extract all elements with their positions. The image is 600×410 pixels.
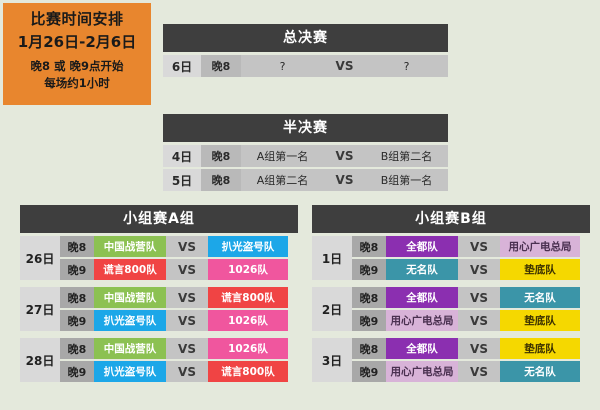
match-time: 晚9 <box>60 259 94 280</box>
semifinal-row-team2: B组第二名 <box>365 145 448 167</box>
finals-row-vs: VS <box>324 55 365 77</box>
team-name-home: 中国战营队 <box>94 338 166 359</box>
team-name-away: 垫底队 <box>500 338 580 359</box>
table-row: 晚9用心广电总局VS无名队 <box>352 361 590 382</box>
group-b-body: 1日晚8全都队VS用心广电总局晚9无名队VS垫底队2日晚8全都队VS无名队晚9用… <box>312 236 590 382</box>
semifinals-block: 半决赛 4日 晚8 A组第一名 VS B组第二名 5日 晚8 A组第二名 VS … <box>163 114 448 191</box>
table-row: 晚9谎言800队VS1026队 <box>60 259 298 280</box>
vs-label: VS <box>458 236 500 257</box>
tournament-date-range: 1月26日-2月6日 <box>18 31 136 53</box>
team-name-away: 1026队 <box>208 338 288 359</box>
semifinal-row-team1: A组第二名 <box>241 169 324 191</box>
table-row: 晚9扒光盗号队VS谎言800队 <box>60 361 298 382</box>
match-time: 晚8 <box>60 236 94 257</box>
group-b-block: 小组赛B组 1日晚8全都队VS用心广电总局晚9无名队VS垫底队2日晚8全都队VS… <box>312 205 590 382</box>
table-row: 晚9扒光盗号队VS1026队 <box>60 310 298 331</box>
table-row: 4日 晚8 A组第一名 VS B组第二名 <box>163 145 448 167</box>
day-group: 26日晚8中国战营队VS扒光盗号队晚9谎言800队VS1026队 <box>20 236 298 280</box>
table-row: 晚8全都队VS垫底队 <box>352 338 590 359</box>
team-name-away: 无名队 <box>500 361 580 382</box>
semifinal-row-vs: VS <box>324 145 365 167</box>
match-list: 晚8中国战营队VS1026队晚9扒光盗号队VS谎言800队 <box>60 338 298 382</box>
day-group: 3日晚8全都队VS垫底队晚9用心广电总局VS无名队 <box>312 338 590 382</box>
schedule-canvas: 比赛时间安排 1月26日-2月6日 晚8 或 晚9点开始 每场约1小时 总决赛 … <box>0 0 600 410</box>
semifinal-row-vs: VS <box>324 169 365 191</box>
vs-label: VS <box>166 361 208 382</box>
semifinal-row-team2: B组第一名 <box>365 169 448 191</box>
vs-label: VS <box>458 259 500 280</box>
table-row: 晚8全都队VS用心广电总局 <box>352 236 590 257</box>
match-time: 晚9 <box>352 259 386 280</box>
group-a-header: 小组赛A组 <box>20 205 298 233</box>
semifinal-row-time: 晚8 <box>201 145 241 167</box>
match-time: 晚9 <box>60 361 94 382</box>
team-name-home: 扒光盗号队 <box>94 361 166 382</box>
vs-label: VS <box>166 338 208 359</box>
team-name-home: 中国战营队 <box>94 287 166 308</box>
team-name-home: 用心广电总局 <box>386 310 458 331</box>
finals-row-time: 晚8 <box>201 55 241 77</box>
day-group: 2日晚8全都队VS无名队晚9用心广电总局VS垫底队 <box>312 287 590 331</box>
table-row: 5日 晚8 A组第二名 VS B组第一名 <box>163 169 448 191</box>
team-name-home: 扒光盗号队 <box>94 310 166 331</box>
vs-label: VS <box>166 287 208 308</box>
vs-label: VS <box>458 361 500 382</box>
team-name-away: 扒光盗号队 <box>208 236 288 257</box>
finals-block: 总决赛 6日 晚8 ? VS ? <box>163 24 448 77</box>
vs-label: VS <box>458 338 500 359</box>
semifinals-header: 半决赛 <box>163 114 448 142</box>
day-label: 1日 <box>312 236 352 280</box>
finals-row-day: 6日 <box>163 55 201 77</box>
table-row: 晚9无名队VS垫底队 <box>352 259 590 280</box>
match-list: 晚8中国战营队VS谎言800队晚9扒光盗号队VS1026队 <box>60 287 298 331</box>
day-label: 26日 <box>20 236 60 280</box>
match-list: 晚8中国战营队VS扒光盗号队晚9谎言800队VS1026队 <box>60 236 298 280</box>
semifinal-row-day: 4日 <box>163 145 201 167</box>
day-group: 1日晚8全都队VS用心广电总局晚9无名队VS垫底队 <box>312 236 590 280</box>
vs-label: VS <box>166 310 208 331</box>
vs-label: VS <box>166 259 208 280</box>
finals-row-team2: ? <box>365 55 448 77</box>
team-name-home: 全都队 <box>386 338 458 359</box>
team-name-home: 谎言800队 <box>94 259 166 280</box>
semifinal-row-time: 晚8 <box>201 169 241 191</box>
table-row: 晚9用心广电总局VS垫底队 <box>352 310 590 331</box>
match-list: 晚8全都队VS无名队晚9用心广电总局VS垫底队 <box>352 287 590 331</box>
day-label: 3日 <box>312 338 352 382</box>
match-list: 晚8全都队VS用心广电总局晚9无名队VS垫底队 <box>352 236 590 280</box>
match-time: 晚8 <box>60 287 94 308</box>
match-time: 晚8 <box>352 236 386 257</box>
semifinal-row-day: 5日 <box>163 169 201 191</box>
vs-label: VS <box>458 310 500 331</box>
finals-row-team1: ? <box>241 55 324 77</box>
team-name-away: 谎言800队 <box>208 361 288 382</box>
tournament-title: 比赛时间安排 <box>30 9 123 29</box>
table-row: 6日 晚8 ? VS ? <box>163 55 448 77</box>
vs-label: VS <box>166 236 208 257</box>
team-name-away: 无名队 <box>500 287 580 308</box>
match-list: 晚8全都队VS垫底队晚9用心广电总局VS无名队 <box>352 338 590 382</box>
finals-rows: 6日 晚8 ? VS ? <box>163 55 448 77</box>
team-name-away: 垫底队 <box>500 310 580 331</box>
group-a-body: 26日晚8中国战营队VS扒光盗号队晚9谎言800队VS1026队27日晚8中国战… <box>20 236 298 382</box>
vs-label: VS <box>458 287 500 308</box>
group-a-block: 小组赛A组 26日晚8中国战营队VS扒光盗号队晚9谎言800队VS1026队27… <box>20 205 298 382</box>
team-name-home: 全都队 <box>386 236 458 257</box>
semifinal-row-team1: A组第一名 <box>241 145 324 167</box>
team-name-away: 垫底队 <box>500 259 580 280</box>
match-time: 晚8 <box>352 287 386 308</box>
match-time: 晚8 <box>60 338 94 359</box>
table-row: 晚8中国战营队VS扒光盗号队 <box>60 236 298 257</box>
team-name-home: 用心广电总局 <box>386 361 458 382</box>
day-label: 27日 <box>20 287 60 331</box>
team-name-home: 中国战营队 <box>94 236 166 257</box>
day-label: 28日 <box>20 338 60 382</box>
team-name-home: 无名队 <box>386 259 458 280</box>
match-time: 晚9 <box>60 310 94 331</box>
tournament-note-start-time: 晚8 或 晚9点开始 <box>30 58 123 75</box>
table-row: 晚8全都队VS无名队 <box>352 287 590 308</box>
tournament-note-duration: 每场约1小时 <box>44 75 110 92</box>
team-name-home: 全都队 <box>386 287 458 308</box>
table-row: 晚8中国战营队VS1026队 <box>60 338 298 359</box>
tournament-info-block: 比赛时间安排 1月26日-2月6日 晚8 或 晚9点开始 每场约1小时 <box>3 3 151 105</box>
match-time: 晚9 <box>352 310 386 331</box>
day-group: 28日晚8中国战营队VS1026队晚9扒光盗号队VS谎言800队 <box>20 338 298 382</box>
match-time: 晚9 <box>352 361 386 382</box>
team-name-away: 用心广电总局 <box>500 236 580 257</box>
team-name-away: 谎言800队 <box>208 287 288 308</box>
group-b-header: 小组赛B组 <box>312 205 590 233</box>
match-time: 晚8 <box>352 338 386 359</box>
table-row: 晚8中国战营队VS谎言800队 <box>60 287 298 308</box>
semifinals-rows: 4日 晚8 A组第一名 VS B组第二名 5日 晚8 A组第二名 VS B组第一… <box>163 145 448 191</box>
day-group: 27日晚8中国战营队VS谎言800队晚9扒光盗号队VS1026队 <box>20 287 298 331</box>
team-name-away: 1026队 <box>208 259 288 280</box>
day-label: 2日 <box>312 287 352 331</box>
finals-header: 总决赛 <box>163 24 448 52</box>
team-name-away: 1026队 <box>208 310 288 331</box>
